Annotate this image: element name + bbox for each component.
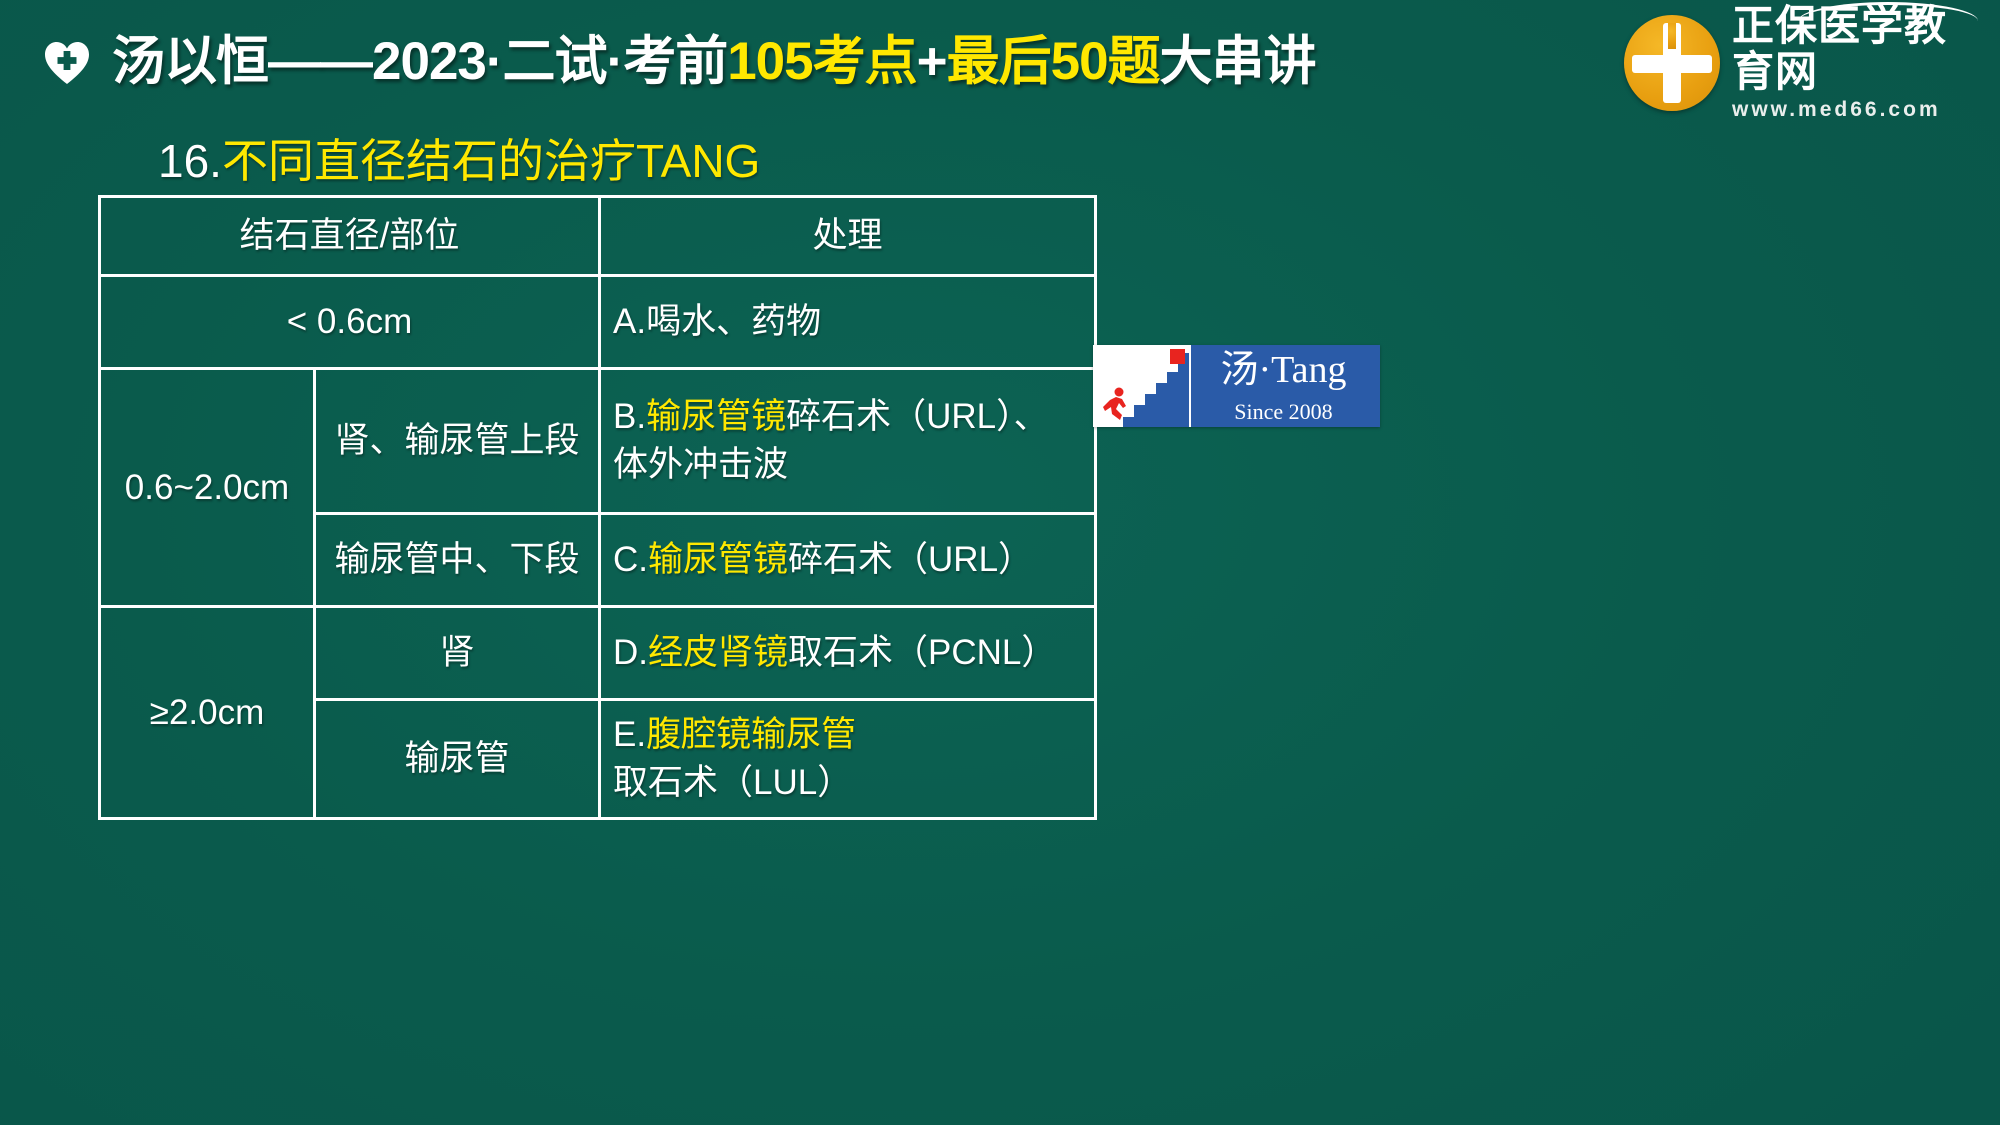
treatment-text-d: 取石术（PCNL） [788, 633, 1056, 672]
med66-logo-text: 正保医学教育网 www.med66.com [1732, 3, 1976, 123]
slide-header: 汤以恒——2023·二试·考前105考点+最后50题大串讲 正保医学教育网 ww… [0, 0, 2000, 124]
table-header-row: 结石直径/部位 处理 [100, 197, 1096, 276]
header-title-seg-0: 汤以恒——2023·二试·考前 [112, 32, 727, 91]
heart-plus-icon [44, 40, 90, 86]
tang-brand-text: 汤·Tang [1191, 349, 1376, 391]
med66-logo: 正保医学教育网 www.med66.com [1624, 12, 1976, 114]
treatment-highlight-b: 输尿管镜 [646, 397, 786, 436]
treatment-prefix-c: C. [613, 540, 648, 579]
cell-site-d: 肾 [315, 607, 600, 700]
header-title-seg-1: 105考点 [727, 32, 916, 91]
cell-site-c: 输尿管中、下段 [315, 514, 600, 607]
treatment-prefix-d: D. [613, 633, 648, 672]
table-header-treatment: 处理 [600, 197, 1096, 276]
stairs-icon [1123, 353, 1189, 427]
treatment-highlight-d: 经皮肾镜 [648, 633, 788, 672]
tang-logo-textpanel: 汤·Tang Since 2008 [1189, 345, 1380, 427]
tang-logo-graphic [1093, 345, 1189, 427]
cell-diameter-a: < 0.6cm [100, 276, 600, 369]
table-row: ≥2.0cm 肾 D.经皮肾镜取石术（PCNL） [100, 607, 1096, 700]
table-row: 0.6~2.0cm 肾、输尿管上段 B.输尿管镜碎石术（URL）、 体外冲击波 [100, 369, 1096, 514]
header-title-seg-2: + [917, 32, 947, 91]
page-title-number: 16. [158, 135, 222, 187]
treatment-text-e: 取石术（LUL） [613, 763, 852, 802]
treatment-text-b: 碎石术（URL）、 [786, 397, 1049, 436]
table-header-diameter: 结石直径/部位 [100, 197, 600, 276]
treatment-prefix-b: B. [613, 397, 646, 436]
treatment-table: 结石直径/部位 处理 < 0.6cm A.喝水、药物 0.6~2.0cm 肾、输… [98, 195, 1097, 820]
cell-treatment-c: C.输尿管镜碎石术（URL） [600, 514, 1096, 607]
treatment-line2-b: 体外冲击波 [613, 445, 788, 484]
treatment-highlight-e: 腹腔镜输尿管 [646, 715, 856, 754]
cell-treatment-e: E.腹腔镜输尿管取石术（LUL） [600, 700, 1096, 819]
running-figure-icon [1102, 387, 1130, 421]
treatment-table-wrap: 结石直径/部位 处理 < 0.6cm A.喝水、药物 0.6~2.0cm 肾、输… [98, 195, 1094, 820]
cell-site-e: 输尿管 [315, 700, 600, 819]
red-flag-icon [1170, 349, 1185, 364]
cross-notch [1668, 23, 1676, 49]
orange-circle-cross-icon [1624, 15, 1720, 111]
cell-site-b: 肾、输尿管上段 [315, 369, 600, 514]
med66-logo-url: www.med66.com [1732, 97, 1976, 123]
header-title: 汤以恒——2023·二试·考前105考点+最后50题大串讲 [112, 26, 1316, 98]
page-title: 16.不同直径结石的治疗TANG [158, 132, 760, 190]
med66-logo-name: 正保医学教育网 [1732, 3, 1976, 95]
treatment-highlight-c: 输尿管镜 [648, 540, 788, 579]
table-row: < 0.6cm A.喝水、药物 [100, 276, 1096, 369]
treatment-text-a: 喝水、药物 [646, 302, 821, 341]
tang-watermark-logo: 汤·Tang Since 2008 [1093, 345, 1380, 427]
treatment-prefix-a: A. [613, 302, 646, 341]
cell-diameter-b: 0.6~2.0cm [100, 369, 315, 607]
cell-treatment-a: A.喝水、药物 [600, 276, 1096, 369]
treatment-prefix-e: E. [613, 715, 646, 754]
tang-since-text: Since 2008 [1191, 400, 1376, 424]
page-title-text: 不同直径结石的治疗TANG [222, 135, 760, 187]
cell-treatment-d: D.经皮肾镜取石术（PCNL） [600, 607, 1096, 700]
header-title-seg-3: 最后50题 [947, 32, 1160, 91]
header-title-seg-4: 大串讲 [1160, 32, 1316, 91]
cell-treatment-b: B.输尿管镜碎石术（URL）、 体外冲击波 [600, 369, 1096, 514]
treatment-text-c: 碎石术（URL） [788, 540, 1033, 579]
cell-diameter-d: ≥2.0cm [100, 607, 315, 819]
